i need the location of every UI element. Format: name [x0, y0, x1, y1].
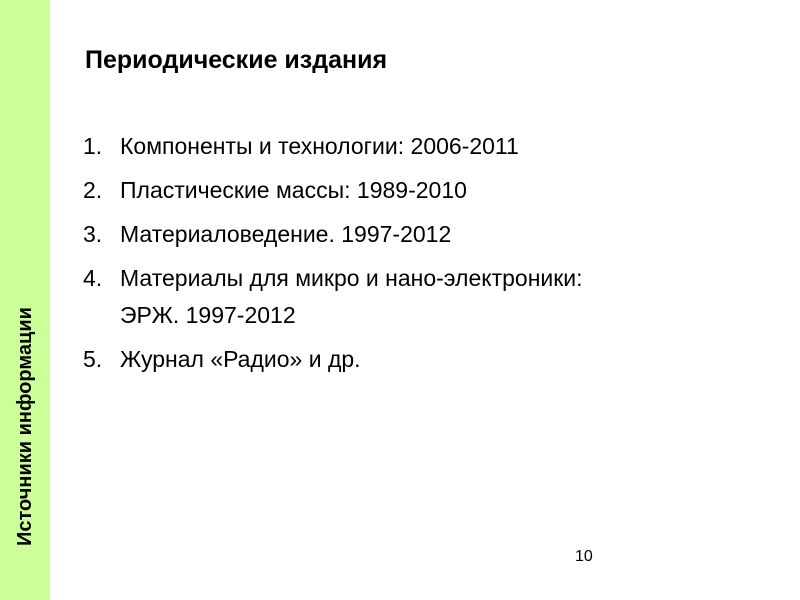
list-item: 1. Компоненты и технологии: 2006-2011 — [83, 128, 783, 165]
list-item: 3. Материаловедение. 1997-2012 — [83, 216, 783, 253]
list-item: 5. Журнал «Радио» и др. — [83, 341, 783, 378]
list-item-marker: 4. — [83, 260, 116, 297]
list-item-text: Компоненты и технологии: 2006-2011 — [120, 128, 783, 165]
list-item: 4. Материалы для микро и нано-электроник… — [83, 260, 783, 334]
sidebar-vertical-label: Источники информации — [0, 0, 50, 550]
list-item-text: Пластические массы: 1989-2010 — [120, 172, 783, 209]
list-item: 2. Пластические массы: 1989-2010 — [83, 172, 783, 209]
sidebar-band: Источники информации — [0, 0, 50, 600]
slide: Источники информации Периодические издан… — [0, 0, 800, 600]
page-title: Периодические издания — [85, 44, 387, 76]
list-item-marker: 3. — [83, 216, 116, 253]
page-number: 10 — [575, 548, 593, 566]
list-item-continuation: ЭРЖ. 1997-2012 — [120, 297, 783, 334]
periodicals-list: 1. Компоненты и технологии: 2006-2011 2.… — [83, 128, 783, 385]
list-item-marker: 2. — [83, 172, 116, 209]
list-item-text: Журнал «Радио» и др. — [120, 341, 783, 378]
slide-content: Периодические издания 1. Компоненты и те… — [50, 0, 800, 600]
list-item-marker: 1. — [83, 128, 116, 165]
list-item-text: Материалы для микро и нано-электроники: — [120, 260, 783, 297]
list-item-text: Материаловедение. 1997-2012 — [120, 216, 783, 253]
list-item-marker: 5. — [83, 341, 116, 378]
